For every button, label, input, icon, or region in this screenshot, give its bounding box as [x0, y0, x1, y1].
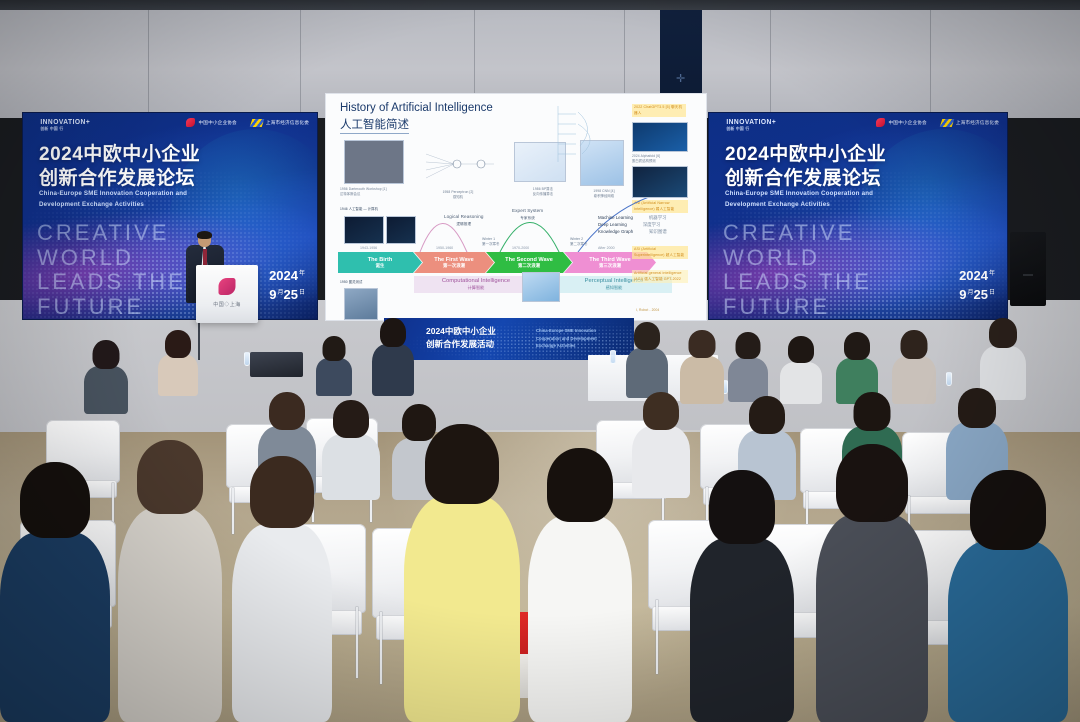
- audience-member: [372, 318, 414, 396]
- water-bottle: [610, 350, 616, 364]
- band-computational-intelligence: Computational Intelligence 计算智能: [414, 276, 538, 293]
- perceptron-diagram: [420, 142, 498, 186]
- banner-title-line2: 创新合作发展论坛: [725, 163, 881, 190]
- wave-first: The First Wave 第一次浪潮: [414, 252, 494, 273]
- banner-date: 2024年 9月25日: [269, 267, 305, 305]
- audience-member: [728, 332, 768, 402]
- audience-member: [632, 392, 690, 498]
- podium: 中国◇上海: [196, 265, 258, 323]
- audience-member-foreground: [948, 470, 1068, 722]
- peak-label-logical-reasoning: Logical Reasoning 逻辑推理: [444, 214, 484, 228]
- audience-member-foreground: [404, 424, 520, 722]
- wall-speaker: [1010, 232, 1046, 306]
- front-banner-title: 2024中欧中小企业 创新合作发展活动: [426, 325, 496, 351]
- audience-member: [84, 340, 128, 414]
- sponsor-logo-1: 中国中小企业协会: [186, 118, 236, 127]
- sponsor-logo-2: 上海市经济信息化委: [251, 119, 309, 127]
- wave-the-birth: The Birth 诞生: [338, 252, 422, 273]
- sponsor-logo-1: 中国中小企业协会: [876, 118, 926, 127]
- era-label-1970: 1970-2000: [512, 246, 529, 250]
- audience-member: [158, 330, 198, 396]
- highlight-chatgpt: 2022 ChatGPT3.5 [5] 聊天机器人: [632, 104, 686, 117]
- banner-slogan: CREATIVE WORLD LEADS THE FUTURE: [37, 221, 186, 320]
- caption-robot-movie: I, Robot - 2004: [636, 308, 659, 313]
- computer-photo: [386, 216, 416, 244]
- turing-portrait: [344, 288, 378, 320]
- caption-alphafold: 2024 Alphafold [6] 蛋白质结构预测: [632, 154, 688, 164]
- highlight-asi: ASI (Artificial Superintelligence) 超人工智能: [632, 246, 688, 259]
- audience-member-foreground: [816, 444, 928, 722]
- led-banner-right: INNOVATION+ 创新 中国 行 中国中小企业协会 上海市经济信息化委 2…: [708, 112, 1008, 320]
- caption-eniac: 1946 人工智能 — 计算机: [340, 207, 378, 212]
- ai-wave-timeline: The Birth 诞生 The First Wave 第一次浪潮 The Se…: [338, 252, 656, 273]
- modern-tech-list: Machine Learning机器学习 Deep Learning深度学习 K…: [598, 214, 667, 235]
- banner-date: 2024年 9月25日: [959, 267, 995, 305]
- banner-title-line2: 创新合作发展论坛: [39, 163, 195, 190]
- podium-logo-icon: [219, 278, 236, 295]
- wall-panel-seam: [148, 10, 149, 118]
- microphone-stand: [198, 318, 200, 360]
- commission-mark-icon: [250, 119, 265, 127]
- era-label-after-2000: After 2000: [598, 246, 615, 250]
- banner-subtitle: China-Europe SME Innovation Cooperation …: [725, 189, 925, 211]
- stage-front-banner: 2024中欧中小企业 创新合作发展活动 China-Europe SME Inn…: [384, 318, 634, 360]
- ai-taxonomy-tree: [548, 102, 608, 168]
- slide-title-cn: 人工智能简述: [340, 116, 409, 134]
- audience-member-foreground: [232, 456, 332, 722]
- association-mark-icon: [186, 118, 195, 127]
- wall-panel-seam: [770, 10, 771, 118]
- peak-label-expert-system: Expert System 专家系统: [512, 208, 543, 222]
- wave-second: The Second Wave 第二次浪潮: [486, 252, 572, 273]
- audience-member: [316, 336, 352, 396]
- banner-title-line1: 2024中欧中小企业: [725, 139, 886, 166]
- audience-member-foreground: [528, 448, 632, 722]
- wall-panel-seam: [930, 10, 931, 118]
- audience-member: [626, 322, 668, 398]
- alphafold-screenshot: [632, 166, 688, 198]
- podium-label: 中国◇上海: [196, 301, 258, 308]
- innovation-logo: INNOVATION+ 创新 中国 行: [726, 119, 776, 132]
- led-banner-left: INNOVATION+ 创新 中国 行 中国中小企业协会 上海市经济信息化委 2…: [22, 112, 318, 320]
- sponsor-logo-2: 上海市经济信息化委: [941, 119, 999, 127]
- presentation-slide: History of Artificial Intelligence 人工智能简…: [325, 93, 707, 321]
- era-label-1950: 1950-1960: [436, 246, 453, 250]
- commission-mark-icon: [940, 119, 955, 127]
- presenter-hair: [197, 231, 212, 239]
- audience-member-foreground: [690, 470, 794, 722]
- audience-member-foreground: [0, 462, 110, 722]
- dartmouth-workshop-photo: [344, 140, 404, 184]
- banner-title-line1: 2024中欧中小企业: [39, 139, 200, 166]
- banner-subtitle: China-Europe SME Innovation Cooperation …: [39, 189, 239, 211]
- eniac-photo: [344, 216, 384, 244]
- water-bottle: [946, 372, 952, 386]
- caption-bp: 1986 BP算法 反向传播算法: [512, 187, 574, 197]
- innovation-logo: INNOVATION+ 创新 中国 行: [40, 119, 90, 132]
- wall-panel-seam: [300, 10, 301, 118]
- presenter-tie: [203, 249, 207, 266]
- winter-1-label: Winter 1 第一次寒冬: [482, 237, 500, 247]
- conference-hall-scene: ✛ ✛ INNOVATION+ 创新 中国 行 中国中小企业协会 上海市经济信息…: [0, 0, 1080, 722]
- sponsor-logo-group: 中国中小企业协会 上海市经济信息化委: [186, 118, 309, 127]
- caption-dartmouth: 1956 Dartmouth Workshop [1] 达特茅斯会议: [340, 187, 412, 197]
- water-bottle: [244, 352, 250, 366]
- audience-member: [780, 336, 822, 404]
- banner-slogan: CREATIVE WORLD LEADS THE FUTURE: [723, 221, 872, 320]
- front-banner-subtitle: China-Europe SME Innovation Cooperation …: [536, 327, 628, 350]
- chatgpt-screenshot: [632, 122, 688, 152]
- association-mark-icon: [876, 118, 885, 127]
- winter-2-label: Winter 2 第二次寒冬: [570, 237, 588, 247]
- robot-photo: [522, 272, 560, 302]
- sponsor-logo-group: 中国中小企业协会 上海市经济信息化委: [876, 118, 999, 127]
- era-label-first: 1943-1956: [360, 246, 377, 250]
- ceiling-fixture-icon: ✛: [676, 74, 685, 85]
- audience-member-foreground: [118, 440, 222, 722]
- caption-turing: 1950 图灵测试: [340, 280, 362, 285]
- highlight-agi: Artificial general intelligence (AGI) 强人…: [632, 270, 688, 283]
- slide-title-en: History of Artificial Intelligence: [340, 102, 493, 114]
- laptop: [250, 352, 303, 377]
